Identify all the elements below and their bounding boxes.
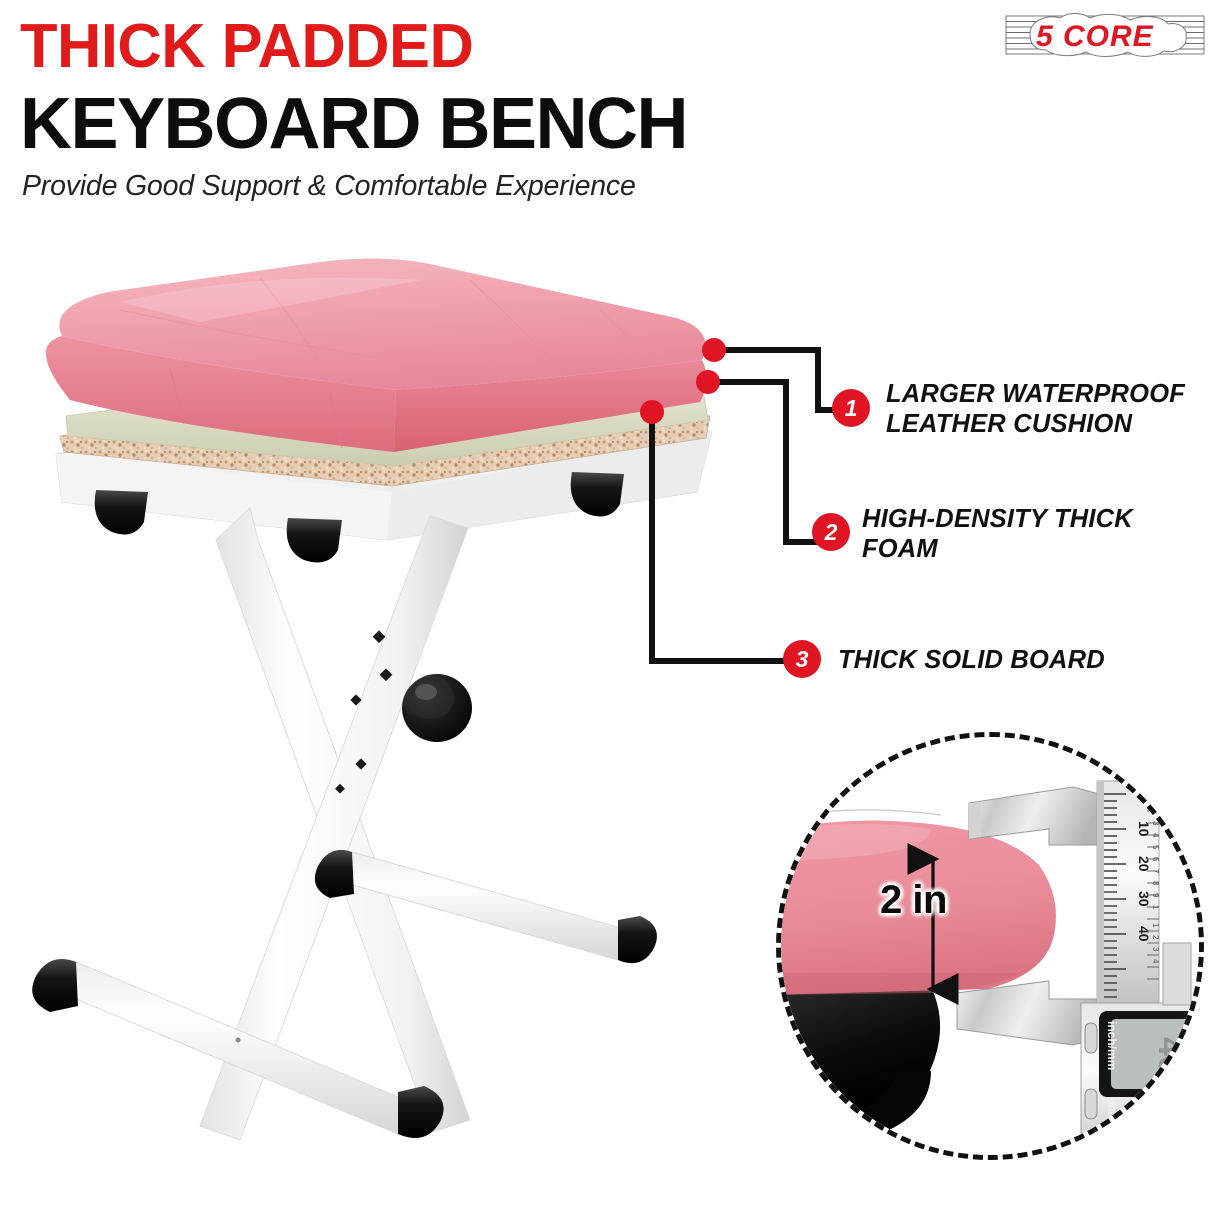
callout-badge-3: 3 xyxy=(783,640,821,678)
callout-label-3: THICK SOLID BOARD xyxy=(838,646,1105,676)
measurement-arrow-icon xyxy=(781,737,1204,1160)
page-title-line2: KEYBOARD BENCH xyxy=(20,88,687,160)
header: THICK PADDED KEYBOARD BENCH Provide Good… xyxy=(0,0,1214,225)
page-subtitle: Provide Good Support & Comfortable Exper… xyxy=(22,170,636,203)
svg-text:5 CORE: 5 CORE xyxy=(1036,20,1154,53)
thickness-detail-inset: 0 10 20 30 40 xyxy=(776,732,1204,1160)
brand-logo-icon: 5 CORE xyxy=(1004,10,1206,60)
page-title-line1: THICK PADDED xyxy=(20,16,473,78)
callout-badge-1: 1 xyxy=(832,389,870,427)
measurement-label: 2 in xyxy=(880,878,947,923)
product-photo-keyboard-bench xyxy=(0,240,740,1190)
callout-label-1: LARGER WATERPROOF LEATHER CUSHION xyxy=(886,380,1185,439)
callout-badge-2: 2 xyxy=(812,513,850,551)
callout-label-2: HIGH-DENSITY THICK FOAM xyxy=(862,505,1133,564)
